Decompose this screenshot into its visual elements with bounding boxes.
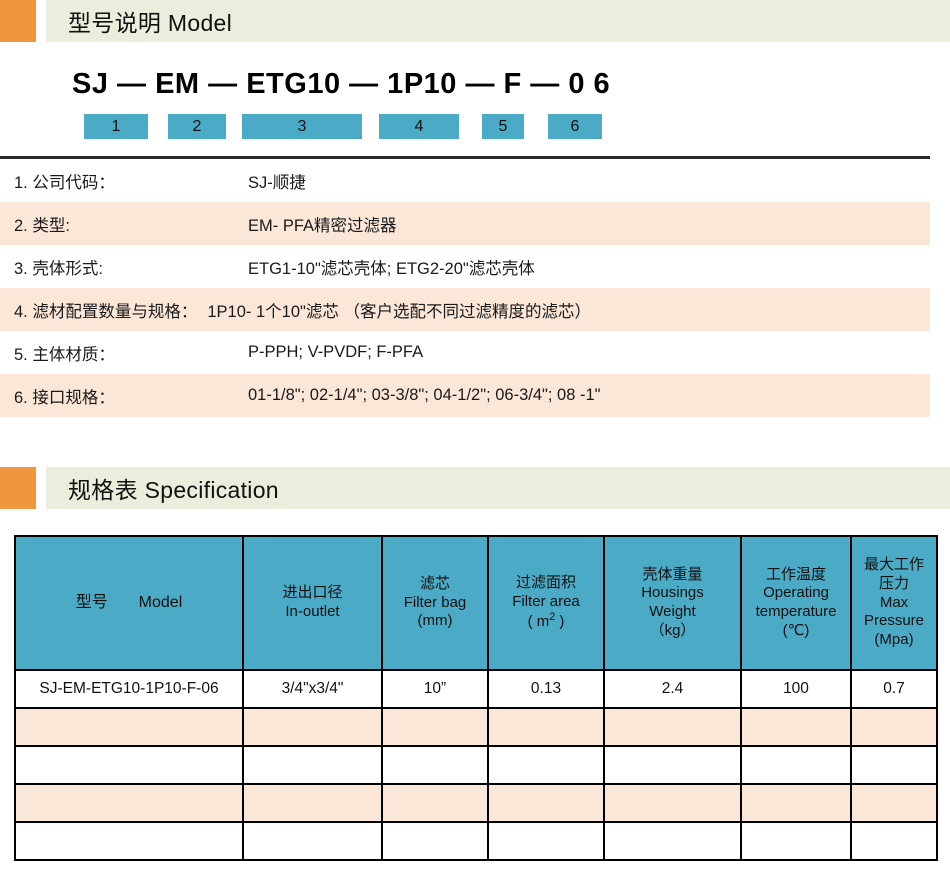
specification-table: 型号 Model 进出口径 In-outlet 滤芯 Filter bag (m…: [14, 535, 938, 861]
table-row: SJ-EM-ETG10-1P10-F-06 3/4"x3/4" 10” 0.13…: [15, 670, 937, 708]
section-spacer: [36, 467, 46, 509]
model-row-label: 2. 类型:: [0, 212, 248, 236]
table-row: [15, 822, 937, 860]
column-header-unit: (mm): [384, 612, 486, 631]
specification-table-wrap: 型号 Model 进出口径 In-outlet 滤芯 Filter bag (m…: [0, 535, 950, 861]
table-header-row: 型号 Model 进出口径 In-outlet 滤芯 Filter bag (m…: [15, 536, 937, 670]
cell-operating-temperature: [741, 822, 851, 860]
model-row-value: 01-1/8"; 02-1/4"; 03-3/8"; 04-1/2"; 06-3…: [248, 386, 930, 405]
specification-section-header: 规格表 Specification: [0, 467, 950, 509]
column-header-cn: 进出口径: [245, 584, 380, 603]
model-row-label: 1. 公司代码：: [0, 169, 248, 193]
model-definition-list: 1. 公司代码： SJ-顺捷 2. 类型: EM- PFA精密过滤器 3. 壳体…: [0, 159, 930, 417]
model-row-value: ETG1-10"滤芯壳体; ETG2-20"滤芯壳体: [248, 255, 930, 279]
model-section-title: 型号说明 Model: [68, 4, 232, 38]
section-spacer: [36, 0, 46, 42]
cell-in-outlet: 3/4"x3/4": [243, 670, 382, 708]
column-header-filter-area: 过滤面积 Filter area ( m2 ): [488, 536, 604, 670]
cell-housings-weight: [604, 708, 741, 746]
badge-5: 5: [482, 114, 524, 139]
cell-model: [15, 784, 243, 822]
column-header-en-1: Operating: [743, 584, 849, 603]
table-row: [15, 784, 937, 822]
column-header-unit: (℃): [743, 622, 849, 641]
cell-in-outlet: [243, 746, 382, 784]
column-header-unit: （kg）: [606, 622, 739, 641]
column-header-in-outlet: 进出口径 In-outlet: [243, 536, 382, 670]
cell-max-pressure: [851, 746, 937, 784]
column-header-cn: 滤芯: [384, 575, 486, 594]
document-page: 型号说明 Model SJ — EM — ETG10 — 1P10 — F — …: [0, 0, 950, 884]
cell-in-outlet: [243, 784, 382, 822]
column-header-cn-1: 最大工作: [853, 556, 935, 575]
column-header-en: Filter area: [490, 593, 602, 612]
cell-operating-temperature: [741, 784, 851, 822]
model-row-body-material: 5. 主体材质： P-PPH; V-PVDF; F-PFA: [0, 331, 930, 374]
column-header-unit: (Mpa): [853, 631, 935, 650]
cell-operating-temperature: [741, 708, 851, 746]
cell-in-outlet: [243, 822, 382, 860]
badge-3: 3: [242, 114, 362, 139]
column-header-cn: 工作温度: [743, 566, 849, 585]
section-marker-orange: [0, 0, 36, 42]
cell-filter-area: [488, 708, 604, 746]
cell-model: SJ-EM-ETG10-1P10-F-06: [15, 670, 243, 708]
badge-1: 1: [84, 114, 148, 139]
model-section-band: 型号说明 Model: [46, 0, 950, 42]
badge-2: 2: [168, 114, 226, 139]
model-row-filter-config: 4. 滤材配置数量与规格： 1P10- 1个10"滤芯 （客户选配不同过滤精度的…: [0, 288, 930, 331]
column-header-en-2: Weight: [606, 603, 739, 622]
column-header-filter-bag: 滤芯 Filter bag (mm): [382, 536, 488, 670]
column-header-cn-2: 压力: [853, 575, 935, 594]
model-code-badges: 1 2 3 4 5 6: [0, 114, 950, 139]
column-header-en-1: Max: [853, 594, 935, 613]
model-row-label: 4. 滤材配置数量与规格：: [0, 298, 207, 322]
cell-filter-bag: 10”: [382, 670, 488, 708]
cell-max-pressure: 0.7: [851, 670, 937, 708]
cell-housings-weight: [604, 746, 741, 784]
cell-filter-area: 0.13: [488, 670, 604, 708]
model-row-type: 2. 类型: EM- PFA精密过滤器: [0, 202, 930, 245]
model-row-value: EM- PFA精密过滤器: [248, 212, 930, 236]
cell-filter-area: [488, 822, 604, 860]
column-header-en-2: Pressure: [853, 612, 935, 631]
cell-filter-area: [488, 784, 604, 822]
cell-filter-bag: [382, 784, 488, 822]
column-header-model-cn: 型号: [76, 594, 108, 611]
cell-housings-weight: [604, 784, 741, 822]
cell-max-pressure: [851, 822, 937, 860]
specification-section-title: 规格表 Specification: [68, 471, 279, 505]
column-header-max-pressure: 最大工作 压力 Max Pressure (Mpa): [851, 536, 937, 670]
badge-6: 6: [548, 114, 602, 139]
model-code-block: SJ — EM — ETG10 — 1P10 — F — 0 6: [0, 68, 950, 101]
column-header-en: In-outlet: [245, 603, 380, 622]
cell-operating-temperature: 100: [741, 670, 851, 708]
column-header-cn: 壳体重量: [606, 566, 739, 585]
column-header-en: Filter bag: [384, 594, 486, 613]
cell-in-outlet: [243, 708, 382, 746]
model-row-label: 6. 接口规格：: [0, 384, 248, 408]
badge-4: 4: [379, 114, 459, 139]
model-row-housing-form: 3. 壳体形式: ETG1-10"滤芯壳体; ETG2-20"滤芯壳体: [0, 245, 930, 288]
column-header-operating-temperature: 工作温度 Operating temperature (℃): [741, 536, 851, 670]
model-section-header: 型号说明 Model: [0, 0, 950, 42]
cell-model: [15, 708, 243, 746]
cell-max-pressure: [851, 784, 937, 822]
cell-filter-bag: [382, 822, 488, 860]
cell-operating-temperature: [741, 746, 851, 784]
model-row-company-code: 1. 公司代码： SJ-顺捷: [0, 159, 930, 202]
column-header-model: 型号 Model: [15, 536, 243, 670]
table-row: [15, 746, 937, 784]
model-row-label: 5. 主体材质：: [0, 341, 248, 365]
column-header-unit: ( m2 ): [490, 611, 602, 632]
model-row-port-spec: 6. 接口规格： 01-1/8"; 02-1/4"; 03-3/8"; 04-1…: [0, 374, 930, 417]
column-header-en-2: temperature: [743, 603, 849, 622]
section-marker-orange: [0, 467, 36, 509]
column-header-model-en: Model: [139, 594, 183, 611]
column-header-cn: 过滤面积: [490, 574, 602, 593]
cell-max-pressure: [851, 708, 937, 746]
model-code-text: SJ — EM — ETG10 — 1P10 — F — 0 6: [72, 68, 950, 101]
cell-model: [15, 822, 243, 860]
model-row-label: 3. 壳体形式:: [0, 255, 248, 279]
cell-housings-weight: [604, 822, 741, 860]
model-row-value: 1P10- 1个10"滤芯 （客户选配不同过滤精度的滤芯）: [207, 298, 930, 322]
cell-filter-area: [488, 746, 604, 784]
specification-section-band: 规格表 Specification: [46, 467, 950, 509]
model-row-value: SJ-顺捷: [248, 169, 930, 193]
table-row: [15, 708, 937, 746]
cell-filter-bag: [382, 746, 488, 784]
cell-model: [15, 746, 243, 784]
model-row-value: P-PPH; V-PVDF; F-PFA: [248, 343, 930, 362]
column-header-housings-weight: 壳体重量 Housings Weight （kg）: [604, 536, 741, 670]
cell-housings-weight: 2.4: [604, 670, 741, 708]
cell-filter-bag: [382, 708, 488, 746]
column-header-en-1: Housings: [606, 584, 739, 603]
